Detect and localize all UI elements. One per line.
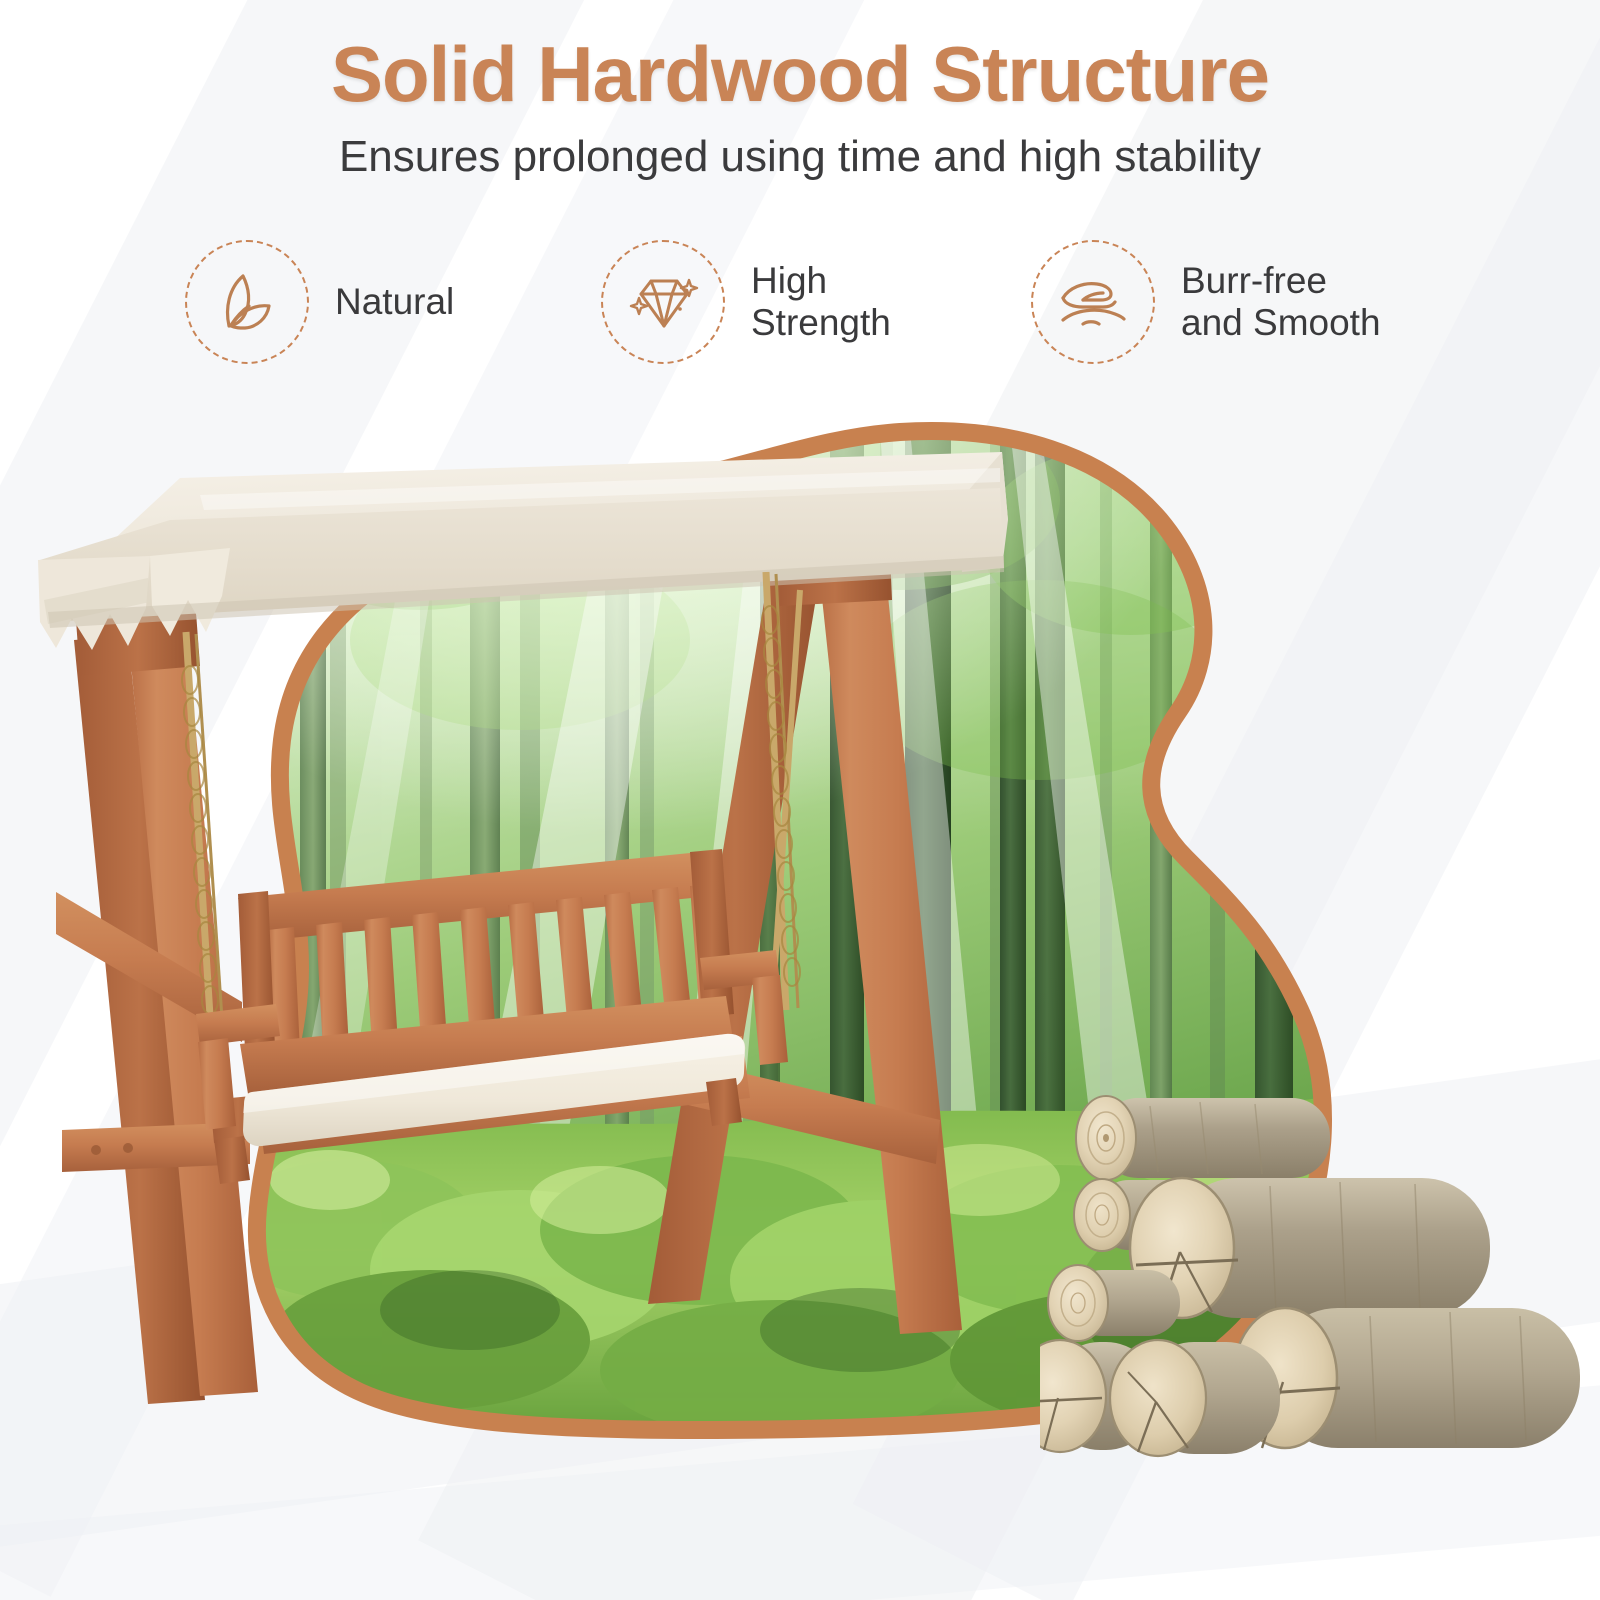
log-right [1233,1308,1580,1448]
log-top [1076,1096,1330,1180]
left-a-frame [56,612,258,1404]
page-title: Solid Hardwood Structure [0,34,1600,116]
header: Solid Hardwood Structure Ensures prolong… [0,0,1600,182]
feature-label: Burr-free and Smooth [1181,260,1381,344]
feature-item-burr-free: Burr-free and Smooth [1015,240,1445,364]
hand-smooth-icon [1031,240,1155,364]
feature-list: Natural High Strength [0,240,1600,364]
feature-label: High Strength [751,260,891,344]
log-bottom-center [1110,1340,1280,1456]
log-small-bottom [1048,1265,1180,1341]
feature-label: Natural [335,281,454,323]
leaf-icon [185,240,309,364]
page-subtitle: Ensures prolonged using time and high st… [0,132,1600,182]
log-middle [1130,1178,1490,1320]
diamond-icon [601,240,725,364]
feature-item-natural: Natural [155,240,585,364]
log-stack [1040,1080,1580,1480]
feature-item-high-strength: High Strength [585,240,1015,364]
